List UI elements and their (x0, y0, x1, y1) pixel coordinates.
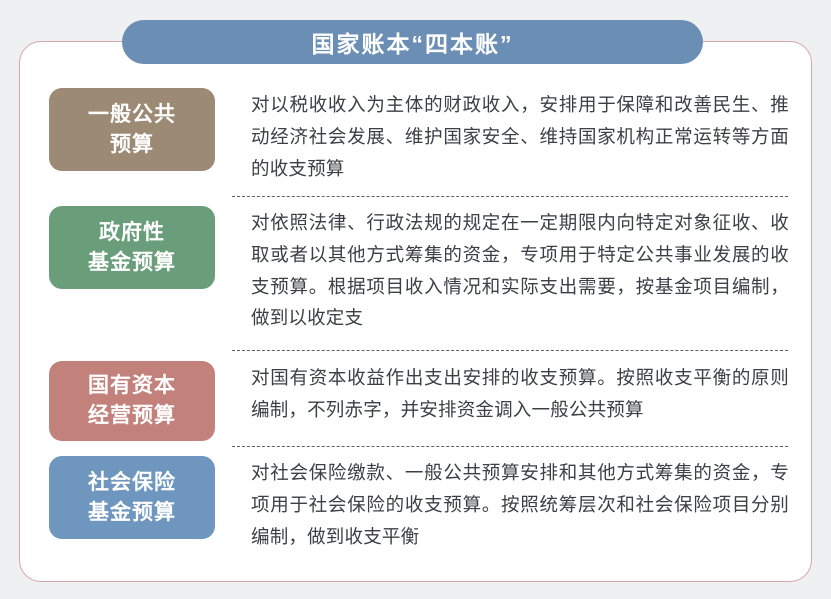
budget-rows: 一般公共 预算 对以税收收入为主体的财政收入，安排用于保障和改善民生、推动经济社… (0, 0, 831, 599)
budget-description-social-insurance: 对社会保险缴款、一般公共预算安排和其他方式筹集的资金，专项用于社会保险的收支预算… (251, 456, 789, 552)
page-title: 国家账本“四本账” (312, 25, 514, 59)
budget-infographic: 国家账本“四本账” 一般公共 预算 对以税收收入为主体的财政收入，安排用于保障和… (0, 0, 831, 599)
chip-line-secondary: 基金预算 (88, 248, 176, 278)
chip-line-secondary: 经营预算 (88, 401, 176, 431)
chip-line-primary: 国有资本 (88, 371, 176, 401)
row-divider-2 (232, 350, 788, 351)
budget-row-social-insurance: 社会保险 基金预算 对社会保险缴款、一般公共预算安排和其他方式筹集的资金，专项用… (49, 456, 789, 562)
chip-line-primary: 政府性 (99, 218, 165, 248)
budget-label-social-insurance[interactable]: 社会保险 基金预算 (49, 456, 215, 539)
title-banner: 国家账本“四本账” (122, 20, 703, 64)
chip-line-secondary: 基金预算 (88, 498, 176, 528)
chip-line-primary: 一般公共 (88, 100, 176, 130)
budget-label-government-fund[interactable]: 政府性 基金预算 (49, 206, 215, 289)
budget-description-state-capital: 对国有资本收益作出支出安排的收支预算。按照收支平衡的原则编制，不列赤字，并安排资… (251, 361, 789, 426)
row-divider-3 (232, 446, 788, 447)
budget-row-state-capital: 国有资本 经营预算 对国有资本收益作出支出安排的收支预算。按照收支平衡的原则编制… (49, 361, 789, 435)
row-divider-1 (232, 196, 788, 197)
budget-label-state-capital[interactable]: 国有资本 经营预算 (49, 361, 215, 441)
budget-row-government-fund: 政府性 基金预算 对依照法律、行政法规的规定在一定期限内向特定对象征收、收取或者… (49, 206, 789, 340)
budget-description-general-public: 对以税收收入为主体的财政收入，安排用于保障和改善民生、推动经济社会发展、维护国家… (251, 88, 789, 184)
budget-label-general-public[interactable]: 一般公共 预算 (49, 88, 215, 171)
chip-line-primary: 社会保险 (88, 468, 176, 498)
budget-description-government-fund: 对依照法律、行政法规的规定在一定期限内向特定对象征收、收取或者以其他方式筹集的资… (251, 206, 789, 334)
chip-line-secondary: 预算 (110, 130, 154, 160)
budget-row-general-public: 一般公共 预算 对以税收收入为主体的财政收入，安排用于保障和改善民生、推动经济社… (49, 88, 789, 190)
